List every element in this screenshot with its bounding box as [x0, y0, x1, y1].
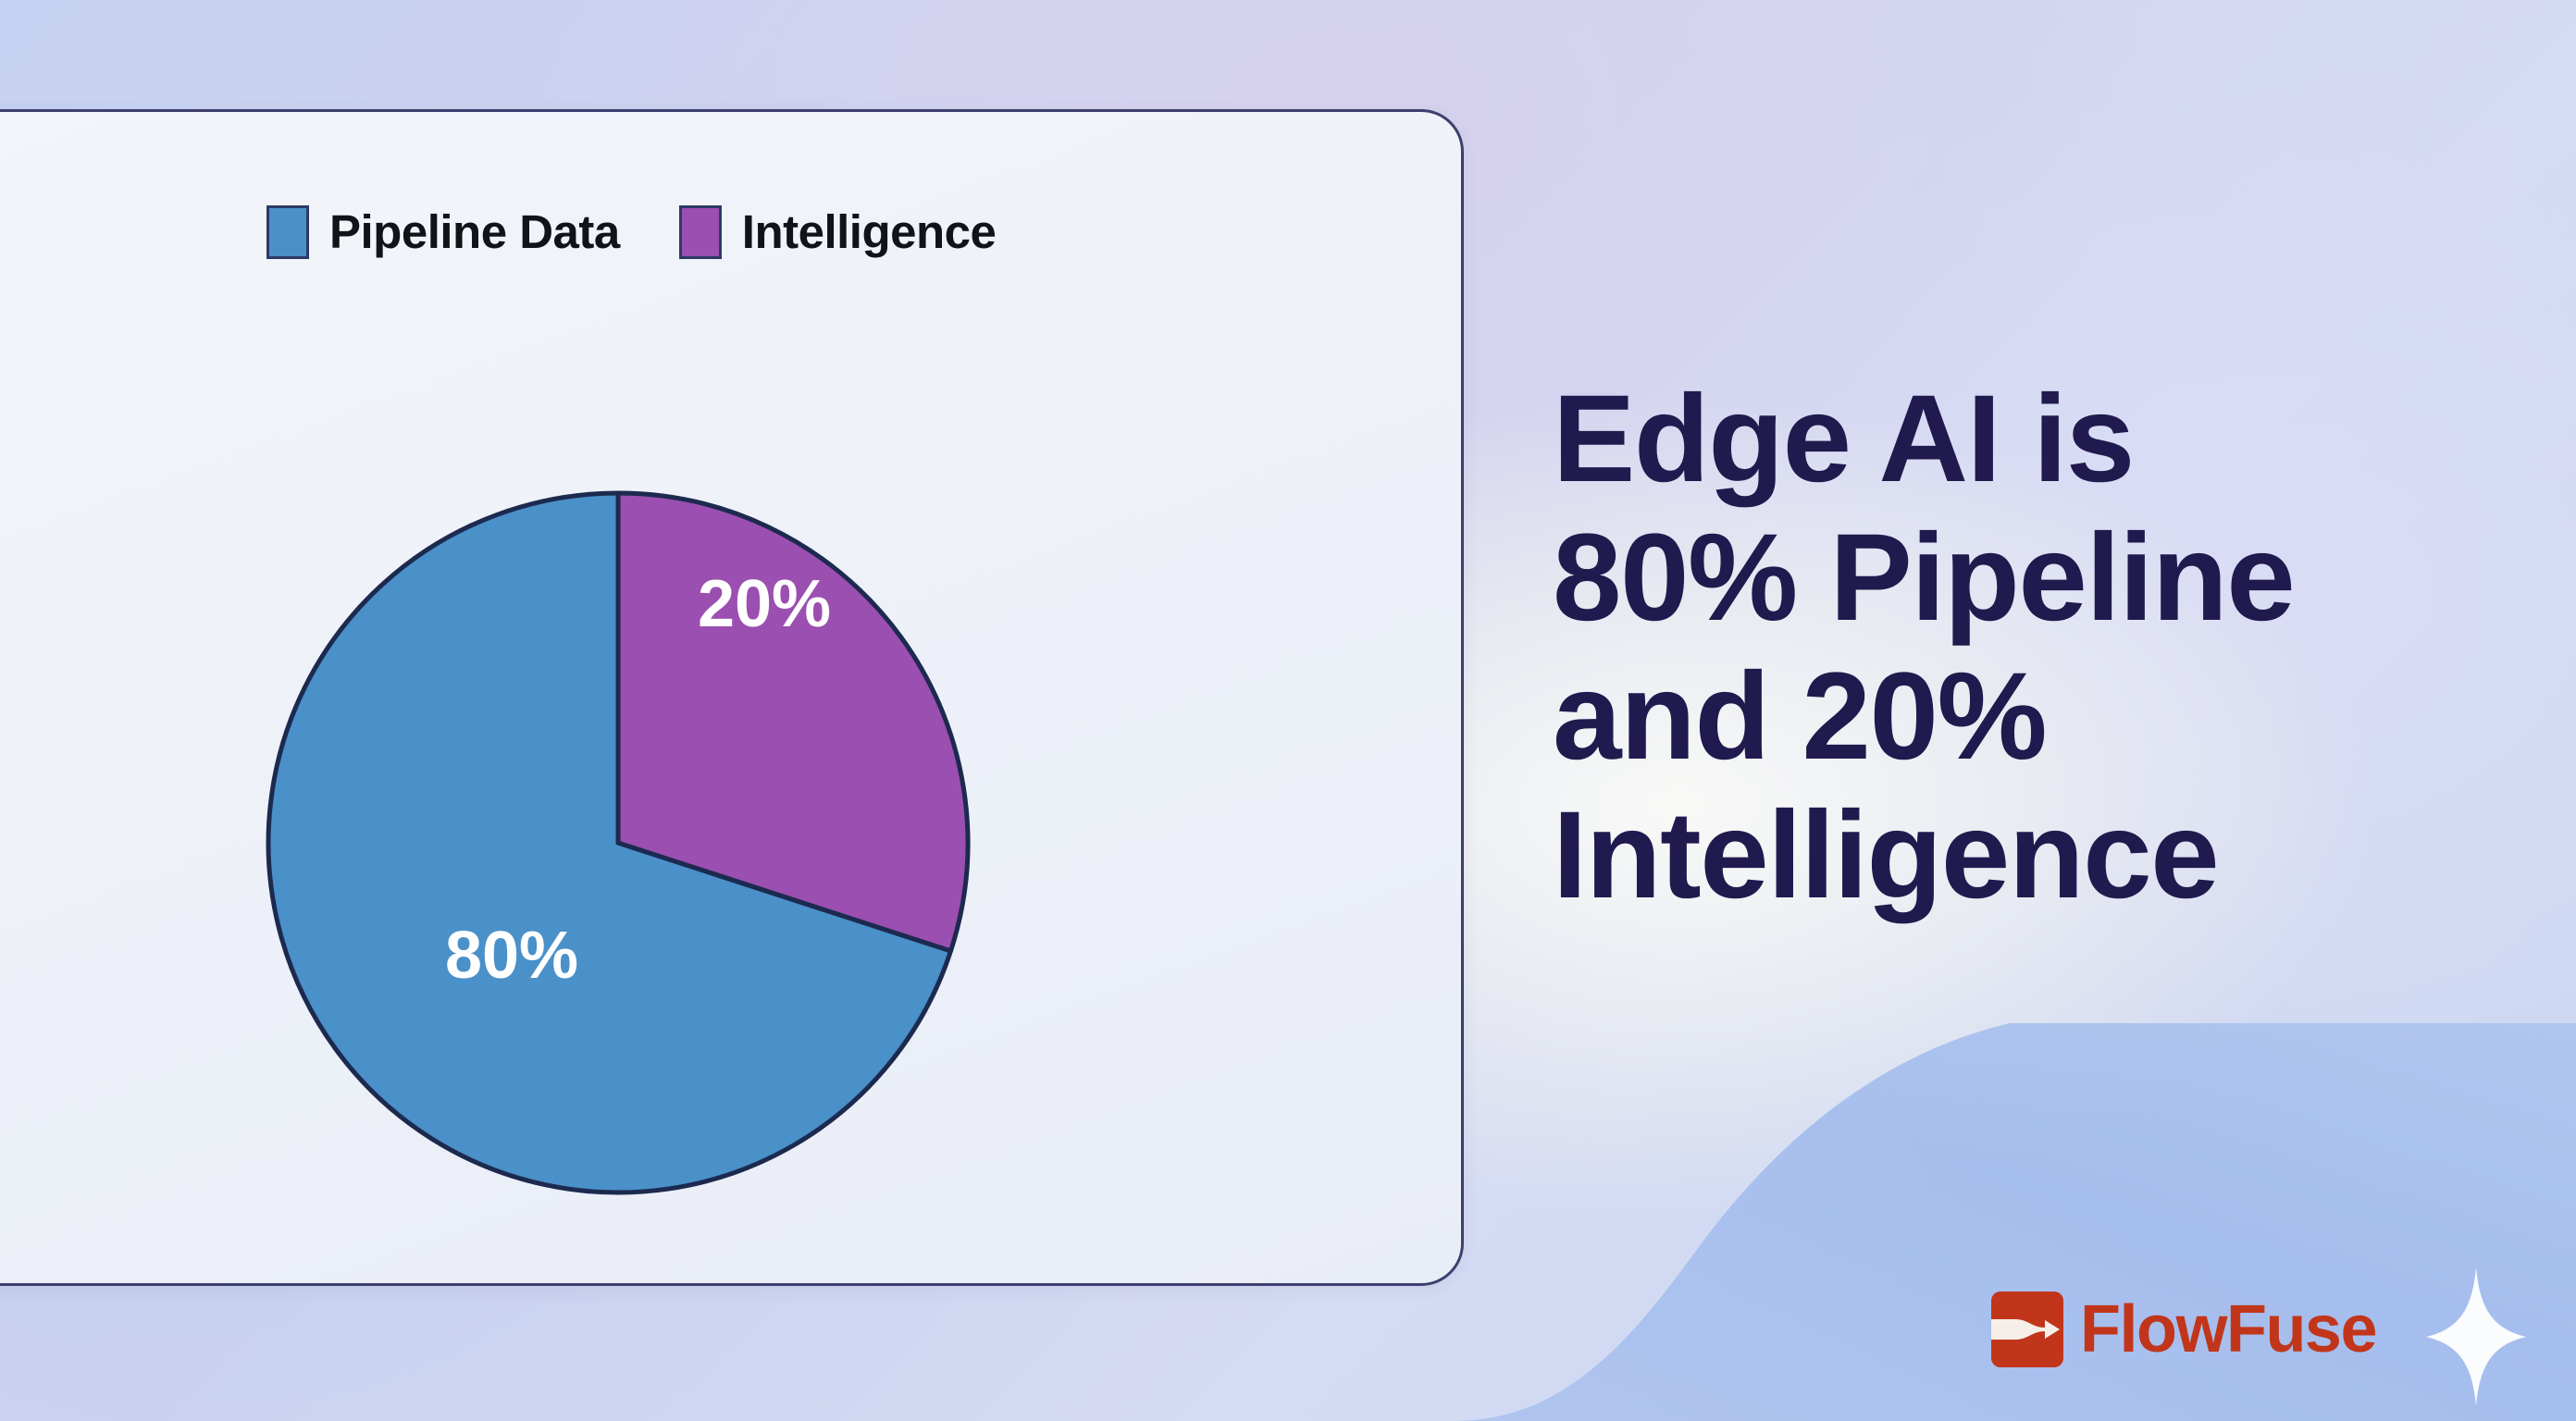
legend-item-intelligence[interactable]: Intelligence [679, 204, 997, 259]
pie-label-intelligence: 20% [698, 567, 831, 641]
pie-label-pipeline-data: 80% [445, 919, 578, 993]
flowfuse-wordmark: FlowFuse [2080, 1296, 2376, 1363]
headline-line-2: 80% Pipeline [1553, 509, 2487, 648]
chart-card: Pipeline Data Intelligence 20% 80% [0, 109, 1464, 1286]
headline-line-1: Edge AI is [1553, 370, 2487, 509]
legend-label-intelligence: Intelligence [742, 204, 997, 259]
legend-swatch-intelligence [679, 205, 722, 259]
legend-item-pipeline-data[interactable]: Pipeline Data [266, 204, 620, 259]
flowfuse-logo[interactable]: FlowFuse [1991, 1291, 2376, 1367]
headline-line-3: and 20% [1553, 648, 2487, 786]
chart-legend: Pipeline Data Intelligence [266, 204, 996, 259]
legend-swatch-pipeline-data [266, 205, 309, 259]
pie-chart: 20% 80% [243, 468, 993, 1217]
headline: Edge AI is 80% Pipeline and 20% Intellig… [1553, 370, 2487, 925]
legend-label-pipeline-data: Pipeline Data [329, 204, 620, 259]
flowfuse-logo-icon [1991, 1291, 2063, 1367]
headline-line-4: Intelligence [1553, 786, 2487, 925]
